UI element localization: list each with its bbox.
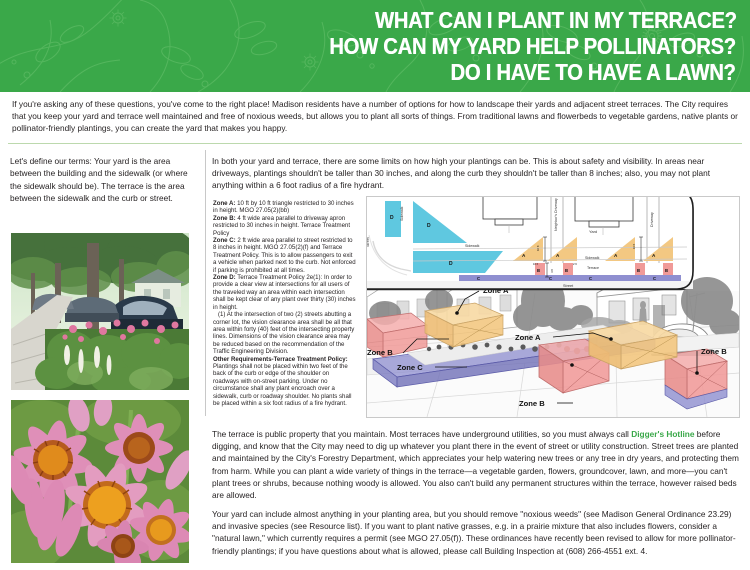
zone-d-subsection: (1) At the intersection of two (2) stree…	[213, 311, 356, 355]
header-banner: WHAT CAN I PLANT IN MY TERRACE? HOW CAN …	[0, 0, 750, 92]
zone-c-entry: Zone C: 2 ft wide area parallel to stree…	[213, 237, 356, 274]
plan-label-yard: Yard	[589, 229, 597, 234]
plan-label-sidewalk-1: Sidewalk	[465, 244, 480, 248]
plan-letter-b-3: B	[637, 268, 640, 273]
column-divider	[205, 150, 206, 416]
zone-definitions-block: Zone A: 10 ft by 10 ft triangle restrict…	[213, 200, 356, 407]
banner-title-line3: DO I HAVE TO HAVE A LAWN?	[451, 59, 736, 85]
plan-label-street: Street	[563, 284, 574, 288]
height-limits-paragraph: In both your yard and terrace, there are…	[212, 155, 739, 192]
diagram-svg: Zone A Zone A Zone B Zone C Zone B Zone …	[367, 197, 739, 417]
plan-letter-c-4: C	[589, 276, 592, 281]
banner-title-line1: WHAT CAN I PLANT IN MY TERRACE?	[375, 7, 737, 33]
plan-dim-4ft: 4 ft	[550, 269, 554, 273]
plan-letter-d-2: D	[427, 223, 431, 229]
intro-paragraph: If you're asking any of these questions,…	[12, 98, 738, 135]
perspective-label-zone-a-2: Zone A	[515, 333, 541, 342]
zone-b-entry: Zone B: 4 ft wide area parallel to drive…	[213, 215, 356, 237]
plan-letter-c-2: C	[549, 276, 552, 281]
banner-title-line2: HOW CAN MY YARD HELP POLLINATORS?	[329, 33, 736, 59]
zone-d-label: Zone D:	[213, 274, 236, 281]
other-requirements-label: Other Requirements-Terrace Treatment Pol…	[213, 356, 348, 363]
yard-paragraph: Your yard can include almost anything in…	[212, 508, 739, 557]
plan-letter-b-1: B	[537, 268, 540, 273]
diggers-hotline-link[interactable]: Digger's Hotline	[631, 429, 694, 439]
zone-a-text: 10 ft by 10 ft triangle restricted to 30…	[213, 200, 354, 214]
plan-dim-2ft: 2 ft	[573, 262, 577, 266]
zone-d-entry: Zone D: Terrace Treatment Policy 2e(1): …	[213, 274, 356, 311]
plan-zone-c-strip	[459, 275, 681, 281]
terrace-text-prefix: The terrace is public property that you …	[212, 429, 631, 439]
plan-dim-10ft-b: 10 ft	[533, 262, 538, 266]
plan-letter-c-1: C	[477, 276, 480, 281]
coneflower-photo	[11, 400, 189, 563]
definitions-text: Let's define our terms: Your yard is the…	[10, 155, 190, 205]
terrace-paragraph: The terrace is public property that you …	[212, 428, 739, 501]
zone-diagram: Zone A Zone A Zone B Zone C Zone B Zone …	[366, 196, 740, 418]
plan-label-terrace: Terrace	[587, 266, 599, 270]
horizontal-divider	[8, 143, 742, 144]
plan-letter-c-3: B	[665, 268, 668, 273]
plan-label-sidewalk-2: Sidewalk	[585, 256, 600, 260]
terrace-garden-photo	[11, 233, 189, 390]
plan-letter-c-5: C	[653, 276, 656, 281]
perspective-zone-b-solid-right	[665, 349, 727, 409]
perspective-label-zone-b-3: Zone B	[701, 347, 727, 356]
plan-letter-b-2: B	[565, 268, 568, 273]
perspective-label-zone-b-1: Zone B	[367, 348, 393, 357]
zone-c-label: Zone C:	[213, 237, 236, 244]
plan-label-sidewalk-vertical: Sidewalk	[400, 206, 404, 221]
zone-a-entry: Zone A: 10 ft by 10 ft triangle restrict…	[213, 200, 356, 215]
zone-b-label: Zone B:	[213, 215, 236, 222]
plan-label-street-vertical: Street	[367, 237, 370, 247]
plan-view-content: D D D A A A A B B B B C C C C Sidewalk S…	[367, 197, 693, 289]
perspective-label-zone-c: Zone C	[397, 363, 423, 372]
perspective-label-zone-b-2: Zone B	[519, 399, 545, 408]
plan-letter-d-1: D	[390, 215, 394, 221]
plan-letter-d-3: D	[449, 261, 453, 267]
plan-label-driveway: Driveway	[650, 212, 654, 227]
plan-dim-10ft-c: 10 ft	[632, 244, 636, 249]
other-requirements-text: Plantings shall not be placed within two…	[213, 363, 352, 407]
plan-label-neighbors-driveway: Neighbor's Driveway	[554, 198, 558, 231]
terrace-text-suffix: before digging, and know that the City m…	[212, 429, 739, 500]
zone-a-label: Zone A:	[213, 200, 235, 207]
plan-dim-10ft: 10 ft	[536, 245, 540, 251]
flyer-page: WHAT CAN I PLANT IN MY TERRACE? HOW CAN …	[0, 0, 750, 570]
other-requirements-entry: Other Requirements-Terrace Treatment Pol…	[213, 356, 356, 408]
